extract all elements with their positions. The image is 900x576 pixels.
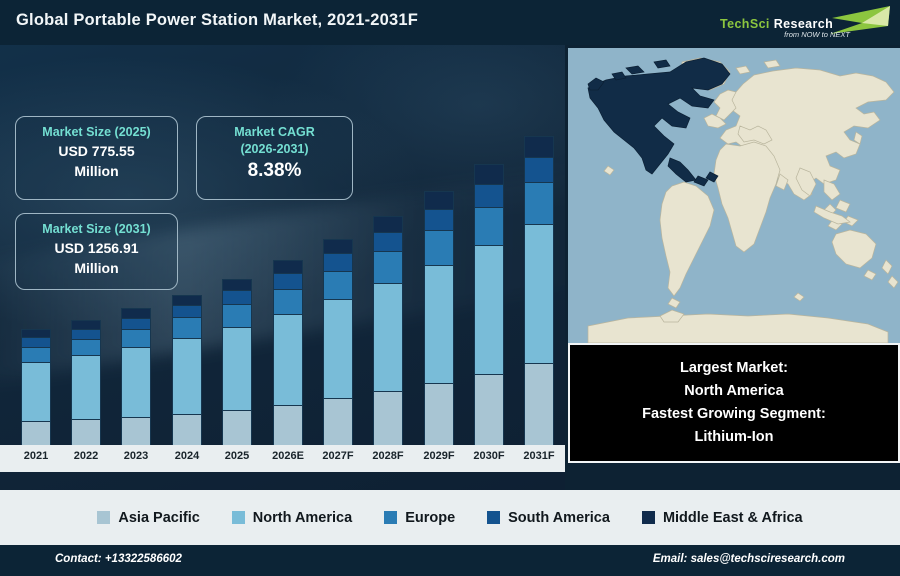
bar-segment-north-america[interactable] xyxy=(21,362,51,422)
logo-text-tech: TechSci xyxy=(720,17,770,31)
bar-segment-north-america[interactable] xyxy=(172,338,202,414)
x-axis-labels: 202120222023202420252026E2027F2028F2029F… xyxy=(0,445,565,472)
x-tick-2027F: 2027F xyxy=(310,450,366,462)
x-tick-2029F: 2029F xyxy=(411,450,467,462)
bar-segment-europe[interactable] xyxy=(373,251,403,282)
bar-2028F[interactable] xyxy=(373,216,403,460)
bar-segment-europe[interactable] xyxy=(323,271,353,299)
header-bar: Global Portable Power Station Market, 20… xyxy=(0,0,900,45)
bar-segment-north-america[interactable] xyxy=(524,224,554,363)
info-line-3: Fastest Growing Segment: xyxy=(642,403,826,426)
bar-segment-middle-east-africa[interactable] xyxy=(424,191,454,209)
x-tick-2024: 2024 xyxy=(159,450,215,462)
bar-2025[interactable] xyxy=(222,279,252,460)
legend-swatch-icon xyxy=(384,511,397,524)
world-map-panel xyxy=(568,48,900,343)
chart-panel: Market Size (2025) USD 775.55 Million Ma… xyxy=(0,45,565,490)
bar-segment-south-america[interactable] xyxy=(21,337,51,347)
world-map-svg xyxy=(568,48,900,343)
legend-item-south-america[interactable]: South America xyxy=(487,510,610,526)
footer-contact: Contact: +13322586602 xyxy=(55,553,182,565)
x-tick-2022: 2022 xyxy=(58,450,114,462)
bar-segment-south-america[interactable] xyxy=(222,290,252,304)
bar-2031F[interactable] xyxy=(524,136,554,460)
info-box: Largest Market: North America Fastest Gr… xyxy=(568,343,900,463)
bar-segment-europe[interactable] xyxy=(474,207,504,245)
infographic-root: Global Portable Power Station Market, 20… xyxy=(0,0,900,576)
bar-segment-middle-east-africa[interactable] xyxy=(71,320,101,329)
bar-segment-north-america[interactable] xyxy=(273,314,303,405)
x-tick-2031F: 2031F xyxy=(511,450,567,462)
page-title: Global Portable Power Station Market, 20… xyxy=(16,11,418,30)
bar-segment-europe[interactable] xyxy=(222,304,252,327)
legend-swatch-icon xyxy=(232,511,245,524)
legend-label: Asia Pacific xyxy=(118,510,199,526)
bar-segment-europe[interactable] xyxy=(524,182,554,224)
bar-segment-europe[interactable] xyxy=(424,230,454,265)
bar-segment-north-america[interactable] xyxy=(121,347,151,417)
bar-2024[interactable] xyxy=(172,295,202,460)
bar-2029F[interactable] xyxy=(424,191,454,460)
bar-segment-middle-east-africa[interactable] xyxy=(21,329,51,337)
bar-segment-europe[interactable] xyxy=(71,339,101,355)
bar-segment-south-america[interactable] xyxy=(373,232,403,251)
bar-segment-south-america[interactable] xyxy=(121,318,151,329)
legend-item-europe[interactable]: Europe xyxy=(384,510,455,526)
x-tick-2023: 2023 xyxy=(108,450,164,462)
bar-segment-middle-east-africa[interactable] xyxy=(273,260,303,273)
legend-label: North America xyxy=(253,510,352,526)
bar-segment-north-america[interactable] xyxy=(424,265,454,383)
techsci-research-logo: TechSci Research from NOW to NEXT xyxy=(712,4,892,42)
bar-segment-europe[interactable] xyxy=(121,329,151,347)
x-tick-2026E: 2026E xyxy=(260,450,316,462)
bar-segment-north-america[interactable] xyxy=(373,283,403,391)
bar-segment-north-america[interactable] xyxy=(323,299,353,398)
bar-segment-europe[interactable] xyxy=(172,317,202,337)
bar-2030F[interactable] xyxy=(474,164,504,460)
legend-item-middle-east-africa[interactable]: Middle East & Africa xyxy=(642,510,803,526)
legend-swatch-icon xyxy=(642,511,655,524)
bar-segment-middle-east-africa[interactable] xyxy=(121,308,151,317)
info-line-4: Lithium-Ion xyxy=(695,426,774,449)
logo-tagline: from NOW to NEXT xyxy=(784,30,850,39)
x-tick-2028F: 2028F xyxy=(360,450,416,462)
bar-segment-middle-east-africa[interactable] xyxy=(222,279,252,291)
bar-segment-middle-east-africa[interactable] xyxy=(323,239,353,253)
legend-swatch-icon xyxy=(487,511,500,524)
bar-2027F[interactable] xyxy=(323,239,353,460)
logo-text-research: Research xyxy=(774,17,834,31)
bar-2022[interactable] xyxy=(71,320,101,460)
info-line-1: Largest Market: xyxy=(680,357,788,380)
bar-segment-north-america[interactable] xyxy=(71,355,101,419)
bar-2026E[interactable] xyxy=(273,260,303,460)
bar-segment-middle-east-africa[interactable] xyxy=(524,136,554,157)
bar-segment-north-america[interactable] xyxy=(222,327,252,410)
logo-wordmark: TechSci Research xyxy=(720,17,833,31)
legend-label: Europe xyxy=(405,510,455,526)
bar-segment-middle-east-africa[interactable] xyxy=(474,164,504,184)
bar-segment-middle-east-africa[interactable] xyxy=(373,216,403,232)
x-tick-2021: 2021 xyxy=(8,450,64,462)
bar-segment-south-america[interactable] xyxy=(323,253,353,270)
bar-segment-europe[interactable] xyxy=(21,347,51,362)
legend-item-asia-pacific[interactable]: Asia Pacific xyxy=(97,510,199,526)
bar-segment-europe[interactable] xyxy=(273,289,303,314)
legend-label: South America xyxy=(508,510,610,526)
bar-segment-south-america[interactable] xyxy=(71,329,101,339)
x-tick-2025: 2025 xyxy=(209,450,265,462)
legend-swatch-icon xyxy=(97,511,110,524)
bar-segment-south-america[interactable] xyxy=(273,273,303,288)
chart-legend: Asia PacificNorth AmericaEuropeSouth Ame… xyxy=(0,490,900,545)
bar-segment-south-america[interactable] xyxy=(172,305,202,317)
bar-2021[interactable] xyxy=(21,329,51,460)
bar-segment-south-america[interactable] xyxy=(424,209,454,230)
bar-segment-south-america[interactable] xyxy=(474,184,504,207)
bar-segment-south-america[interactable] xyxy=(524,157,554,182)
bar-segment-north-america[interactable] xyxy=(474,245,504,373)
stacked-bar-plot xyxy=(0,45,565,490)
info-line-2: North America xyxy=(684,380,783,403)
footer-email: Email: sales@techsciresearch.com xyxy=(653,553,845,565)
x-tick-2030F: 2030F xyxy=(461,450,517,462)
bar-2023[interactable] xyxy=(121,308,151,460)
bar-segment-middle-east-africa[interactable] xyxy=(172,295,202,305)
legend-label: Middle East & Africa xyxy=(663,510,803,526)
legend-item-north-america[interactable]: North America xyxy=(232,510,352,526)
footer-bar: Contact: +13322586602 Email: sales@techs… xyxy=(0,545,900,576)
